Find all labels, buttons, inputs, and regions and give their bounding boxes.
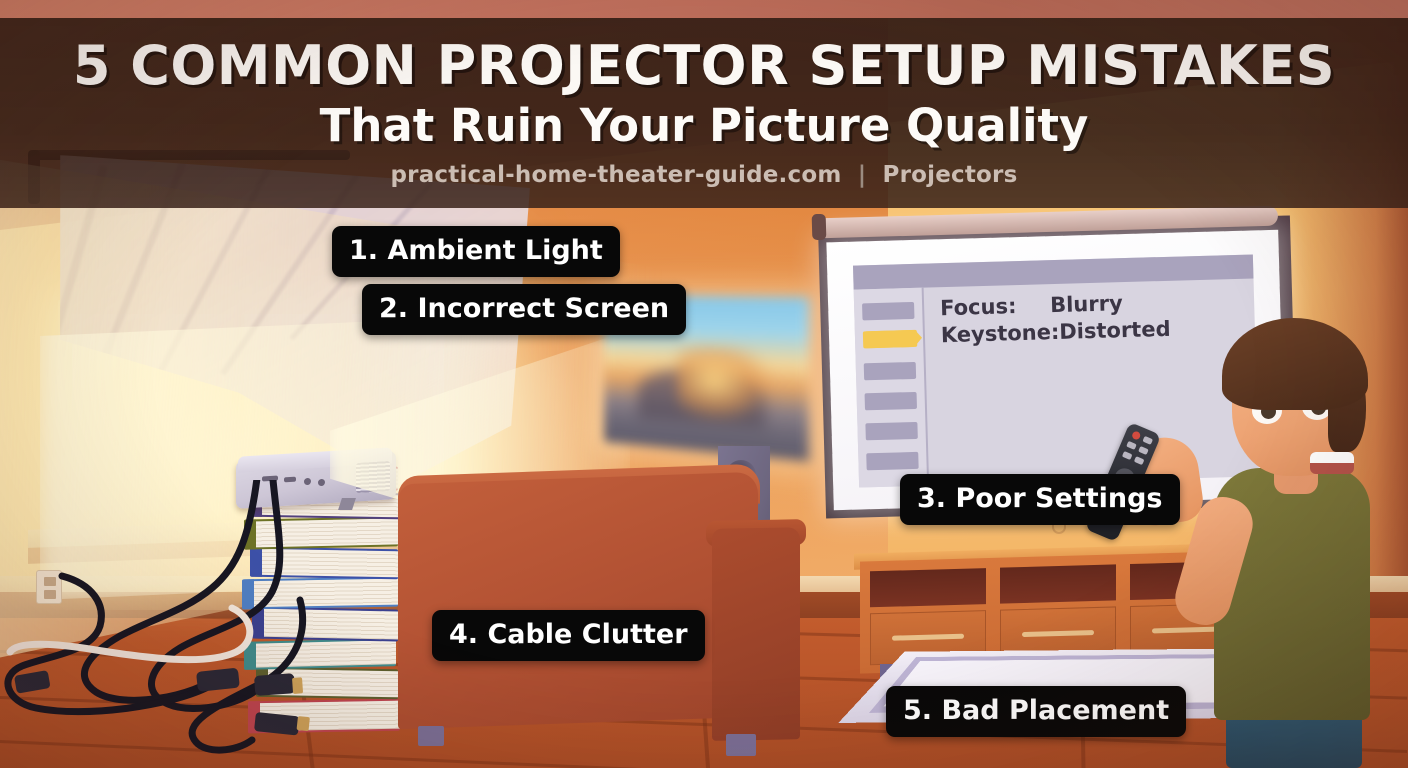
- byline: practical-home-theater-guide.com | Proje…: [390, 162, 1017, 188]
- callout-cable-clutter: 4. Cable Clutter: [432, 610, 705, 661]
- top-accent-strip: [0, 0, 1408, 18]
- person-mouth: [1310, 452, 1354, 474]
- page-subtitle: That Ruin Your Picture Quality: [320, 103, 1089, 148]
- osd-menu-item[interactable]: [865, 422, 917, 440]
- osd-menu-item[interactable]: [862, 302, 914, 320]
- osd-menu-item-active[interactable]: [863, 330, 915, 348]
- sofa-back: [398, 472, 758, 730]
- osd-focus-key: Focus:: [940, 292, 1051, 322]
- page-title: 5 COMMON PROJECTOR SETUP MISTAKES: [73, 39, 1335, 93]
- callout-bad-placement: 5. Bad Placement: [886, 686, 1186, 737]
- sofa-foot: [726, 734, 756, 756]
- infographic-root: Focus: Blurry Keystone: Distorted: [0, 0, 1408, 768]
- projection-screen-roller-bracket: [812, 214, 827, 240]
- callout-incorrect-screen: 2. Incorrect Screen: [362, 284, 686, 335]
- header-band: 5 COMMON PROJECTOR SETUP MISTAKES That R…: [0, 18, 1408, 208]
- person-hair: [1222, 318, 1368, 410]
- byline-site: practical-home-theater-guide.com: [390, 162, 841, 188]
- sofa-arm: [712, 527, 800, 741]
- osd-focus-value: Blurry: [1050, 290, 1123, 319]
- byline-category: Projectors: [883, 162, 1018, 188]
- osd-menu-item[interactable]: [865, 392, 917, 410]
- callout-poor-settings: 3. Poor Settings: [900, 474, 1180, 525]
- frustrated-man: [1178, 300, 1408, 768]
- osd-menu-item[interactable]: [866, 452, 918, 470]
- osd-menu-item[interactable]: [864, 362, 916, 380]
- osd-menu-sidebar[interactable]: [854, 288, 930, 488]
- osd-keystone-key: Keystone:: [941, 319, 1060, 349]
- cable-clutter: [0, 480, 460, 768]
- callout-ambient-light: 1. Ambient Light: [332, 226, 620, 277]
- byline-separator: |: [858, 162, 867, 188]
- osd-keystone-value: Distorted: [1059, 316, 1171, 346]
- sofa-foot: [418, 726, 444, 746]
